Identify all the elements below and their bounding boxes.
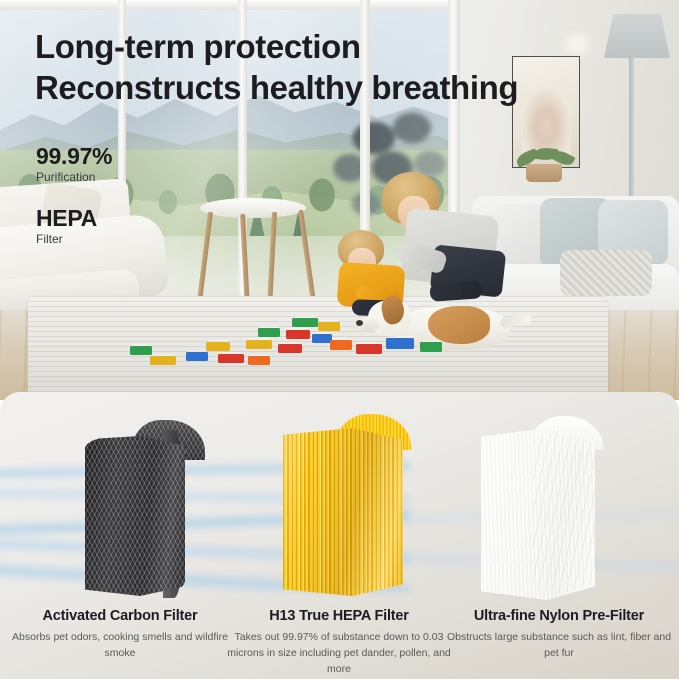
caption-activated-carbon: Activated Carbon Filter Absorbs pet odor…	[8, 608, 232, 662]
caption-description: Obstructs large substance such as lint, …	[446, 630, 672, 662]
caption-description: Absorbs pet odors, cooking smells and wi…	[8, 630, 232, 662]
toy-block	[356, 344, 382, 354]
dog-nose	[356, 320, 363, 326]
stat-purification-value: 99.97%	[36, 143, 112, 170]
stat-hepa-label: Filter	[36, 232, 63, 246]
toy-block	[218, 354, 244, 363]
stat-purification-label: Purification	[36, 170, 95, 184]
stat-hepa-value: HEPA	[36, 205, 97, 232]
side-table-top	[200, 198, 306, 218]
toy-block	[386, 338, 414, 349]
nylon-prefilter-image	[481, 416, 597, 604]
toy-block	[292, 318, 318, 327]
product-feature-image: Long-term protection Reconstructs health…	[0, 0, 679, 679]
carbon-filter-mesh	[85, 436, 185, 596]
dog-coat-patch	[428, 306, 490, 344]
toy-block	[286, 330, 310, 339]
caption-title: H13 True HEPA Filter	[226, 608, 452, 624]
window-frame-top	[0, 0, 460, 10]
toy-block	[150, 356, 176, 365]
headline-line-1: Long-term protection	[35, 26, 635, 67]
toy-block	[186, 352, 208, 361]
toy-block	[206, 342, 230, 351]
toy-block	[258, 328, 280, 337]
child-leg	[429, 280, 482, 302]
headline-line-2: Reconstructs healthy breathing	[35, 67, 635, 108]
toy-block	[246, 340, 272, 349]
toy-block	[420, 342, 442, 352]
toy-block	[318, 322, 340, 331]
living-room-scene: Long-term protection Reconstructs health…	[0, 0, 679, 400]
hepa-filter-image	[283, 414, 405, 602]
rug-texture	[28, 296, 608, 400]
caption-title: Activated Carbon Filter	[8, 608, 232, 624]
page-title: Long-term protection Reconstructs health…	[35, 26, 635, 109]
activated-carbon-filter-image	[85, 416, 185, 602]
knit-pillow	[560, 250, 652, 296]
potted-plant	[508, 148, 582, 182]
toy-block	[248, 356, 270, 365]
hepa-filter-shading	[283, 428, 403, 596]
caption-h13-true-hepa: H13 True HEPA Filter Takes out 99.97% of…	[226, 608, 452, 677]
nylon-filter-folds	[533, 434, 595, 594]
toy-block	[130, 346, 152, 355]
toy-block	[330, 340, 352, 350]
plant-pot	[526, 164, 562, 182]
filter-layers-panel: Activated Carbon Filter Absorbs pet odor…	[0, 392, 679, 679]
caption-title: Ultra-fine Nylon Pre-Filter	[446, 608, 672, 624]
caption-description: Takes out 99.97% of substance down to 0.…	[226, 630, 452, 677]
caption-ultra-fine-nylon: Ultra-fine Nylon Pre-Filter Obstructs la…	[446, 608, 672, 662]
toy-block	[312, 334, 332, 343]
toy-block	[278, 344, 302, 353]
